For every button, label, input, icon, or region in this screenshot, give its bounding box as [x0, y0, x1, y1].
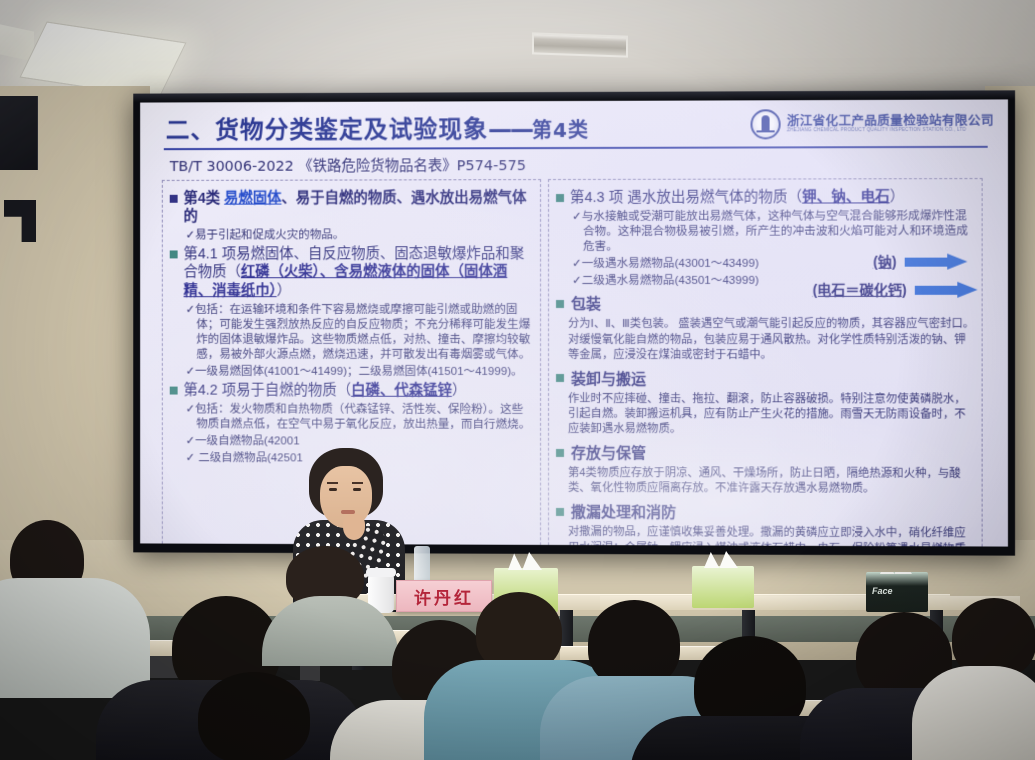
audience-shoulders	[0, 578, 150, 698]
item-42-heading-b: ）	[452, 383, 466, 399]
tea-cup-lid	[366, 568, 396, 577]
presenter-eye-right	[353, 488, 361, 491]
classroom-scene: 二、货物分类鉴定及试验现象——第4类 浙江省化工产品质量检验站有限公司 ZHEJ…	[0, 0, 1035, 760]
item-42-heading-highlight: 白磷、代森锰锌	[351, 383, 452, 399]
bullet-square-icon	[556, 374, 564, 382]
item-42-code-1: ✓一级自燃物品(42001	[186, 434, 534, 450]
item-42-heading: 第4.2 项易于自燃的物质（白磷、代森锰锌）	[170, 382, 533, 400]
storage-body: 第4类物质应存放于阴凉、通风、干燥场所，防止日晒，隔绝热源和火种，与酸类、氧化性…	[568, 466, 975, 497]
slide-title: 二、货物分类鉴定及试验现象——第4类	[166, 109, 589, 145]
item-43-heading: 第4.3 项 遇水放出易燃气体的物质（钾、钠、电石）	[556, 188, 975, 207]
item-41-heading-b: ）	[277, 283, 291, 299]
handling-heading: 装卸与搬运	[556, 368, 975, 389]
item-41-codes: ✓一级易燃固体(41001～41499)；二级易燃固体(41501～41999)…	[186, 364, 534, 379]
wall-speaker	[0, 96, 38, 170]
slide-title-sub: 第4类	[532, 118, 589, 142]
spill-body: 对撒漏的物品，应谨慎收集妥善处理。撒漏的黄磷应立即浸入水中，硝化纤维应用水润湿；…	[568, 525, 975, 546]
arrow-right-icon	[905, 253, 968, 270]
presenter-brow-right	[352, 482, 363, 484]
annotation-carbide-label: (电石＝碳化钙)	[813, 280, 907, 300]
class4-check: ✓易于引起和促成火灾的物品。	[186, 227, 534, 243]
arrow-right-icon	[915, 281, 978, 298]
presenter-eye-left	[329, 488, 337, 491]
class4-heading-a: 第4类	[184, 191, 225, 207]
side-table	[600, 596, 1020, 610]
company-logo-text: 浙江省化工产品质量检验站有限公司 ZHEJIANG CHEMICAL PRODU…	[787, 115, 994, 134]
annotation-carbide: (电石＝碳化钙)	[813, 280, 978, 300]
item-43-heading-b: ）	[890, 189, 905, 205]
storage-heading-label: 存放与保管	[571, 442, 646, 463]
packaging-body: 分为Ⅰ、Ⅱ、Ⅲ类包装。 盛装遇空气或潮气能引起反应的物质，其容器应气密封口。对缓…	[568, 317, 975, 363]
class4-heading: 第4类 易燃固体、易于自燃的物质、遇水放出易燃气体的	[170, 189, 533, 226]
audience-head	[588, 600, 680, 688]
bullet-square-icon	[556, 449, 564, 457]
slide-column-right: 第4.3 项 遇水放出易燃气体的物质（钾、钠、电石） ✓与水接触或受潮可能放出易…	[548, 178, 983, 547]
packaging-heading-label: 包装	[571, 293, 601, 314]
bullet-square-icon	[556, 300, 564, 308]
company-emblem-icon	[751, 109, 781, 139]
slide-header: 二、货物分类鉴定及试验现象——第4类 浙江省化工产品质量检验站有限公司 ZHEJ…	[140, 99, 1008, 147]
bullet-square-icon	[170, 387, 178, 395]
standard-reference: TB/T 30006-2022 《铁路危险货物品名表》P574-575	[140, 148, 1008, 180]
spill-heading: 撒漏处理和消防	[556, 501, 975, 523]
bullet-square-icon	[556, 194, 564, 202]
presenter-hand	[343, 514, 365, 540]
handling-body: 作业时不应摔碰、撞击、拖拉、翻滚，防止容器破损。特别注意勿使黄磷脱水，引起自燃。…	[568, 392, 975, 438]
item-41-body: ✓包括：在运输环境和条件下容易燃烧或摩擦可能引燃或助燃的固体；可能发生强烈放热反…	[186, 302, 534, 362]
presentation-slide: 二、货物分类鉴定及试验现象——第4类 浙江省化工产品质量检验站有限公司 ZHEJ…	[140, 99, 1008, 546]
item-43-heading-highlight: 钾、钠、电石	[802, 189, 890, 205]
spill-heading-label: 撒漏处理和消防	[571, 501, 676, 522]
item-43-body: ✓与水接触或受潮可能放出易燃气体，这种气体与空气混合能够形成爆炸性混合物。这种混…	[572, 208, 975, 254]
bullet-square-icon	[556, 508, 564, 516]
item-41-heading: 第4.1 项易燃固体、自反应物质、固态退敏爆炸品和聚合物质（红磷（火柴）、含易燃…	[170, 245, 533, 299]
audience-shoulders	[912, 666, 1035, 760]
annotation-sodium: (钠)	[873, 252, 967, 272]
tissue-sheet	[880, 572, 912, 574]
audience-head	[198, 672, 310, 760]
presenter-brow-left	[327, 482, 338, 484]
slide-columns: 第4类 易燃固体、易于自燃的物质、遇水放出易燃气体的 ✓易于引起和促成火灾的物品…	[140, 178, 1008, 547]
annotation-sodium-label: (钠)	[873, 252, 897, 272]
slide-title-main: 二、货物分类鉴定及试验现象	[166, 115, 488, 144]
projection-screen: 二、货物分类鉴定及试验现象——第4类 浙江省化工产品质量检验站有限公司 ZHEJ…	[133, 90, 1015, 555]
item-42-heading-a: 第4.2 项易于自燃的物质（	[184, 383, 351, 399]
item-43-heading-a: 第4.3 项 遇水放出易燃气体的物质（	[570, 190, 802, 206]
bullet-square-icon	[170, 251, 178, 259]
company-name-en: ZHEJIANG CHEMICAL PRODUCT QUALITY INSPEC…	[787, 128, 994, 133]
company-logo: 浙江省化工产品质量检验站有限公司 ZHEJIANG CHEMICAL PRODU…	[751, 109, 994, 144]
bullet-square-icon	[170, 195, 178, 203]
nameplate-text: 许丹红	[414, 584, 474, 609]
nameplate: 许丹红	[396, 580, 492, 612]
handling-heading-label: 装卸与搬运	[571, 368, 646, 389]
tissue-box: Face	[866, 572, 928, 612]
tissue-box-label: Face	[872, 586, 893, 596]
air-vent	[532, 32, 628, 57]
item-42-body: ✓包括：发火物质和自热物质（代森锰锌、活性炭、保险粉）。这些物质自燃点低，在空气…	[186, 402, 534, 433]
storage-heading: 存放与保管	[556, 442, 975, 464]
class4-heading-highlight: 易燃固体	[224, 191, 281, 207]
slide-title-dash: ——	[488, 115, 532, 143]
tissue-box	[692, 566, 754, 608]
